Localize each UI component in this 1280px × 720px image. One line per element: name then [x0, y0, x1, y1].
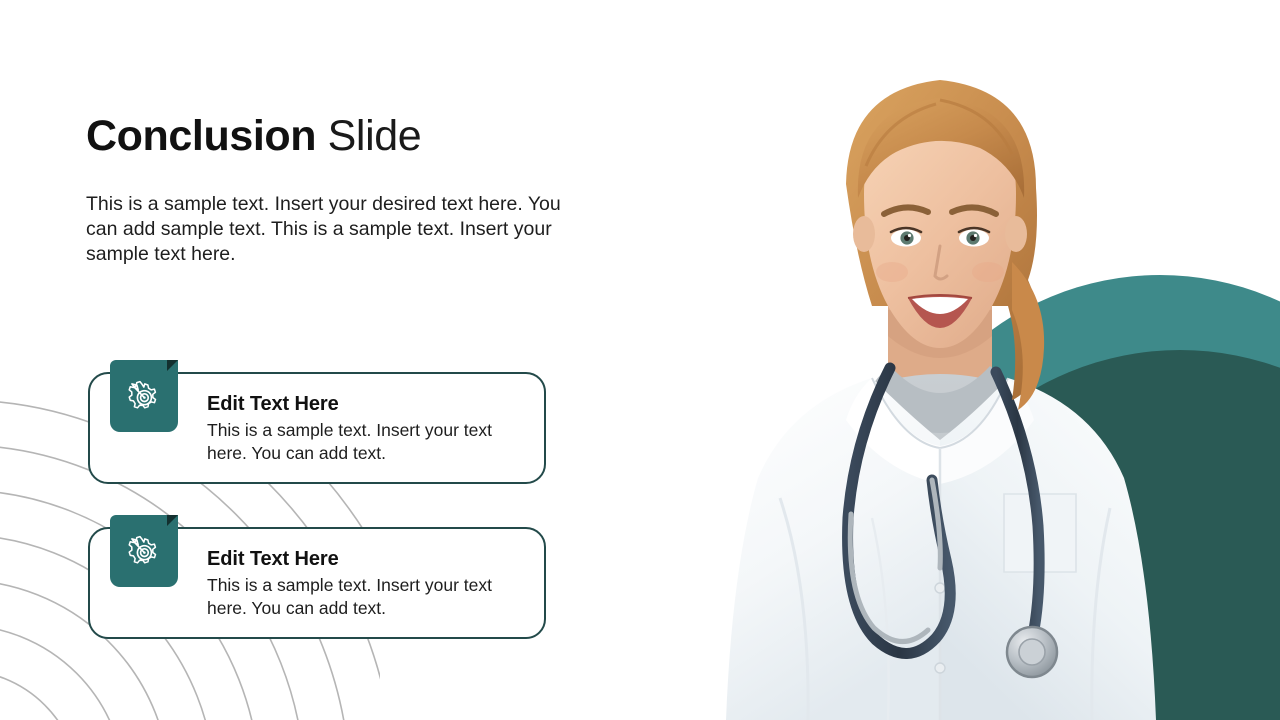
title-light: Slide — [328, 112, 422, 160]
card-1-title: Edit Text Here — [207, 391, 527, 417]
info-card-1[interactable]: Edit Text Here This is a sample text. In… — [88, 372, 546, 484]
card-2-description: This is a sample text. Insert your text … — [207, 574, 527, 620]
body-paragraph: This is a sample text. Insert your desir… — [86, 192, 591, 267]
info-card-2[interactable]: Edit Text Here This is a sample text. In… — [88, 527, 546, 639]
doctor-photo — [640, 48, 1240, 720]
page-title: Conclusion Slide — [86, 110, 421, 162]
decorative-teal-circles — [860, 0, 1280, 720]
card-1-description: This is a sample text. Insert your text … — [207, 419, 527, 465]
card-2-icon-badge — [110, 515, 178, 587]
slide-canvas: Conclusion Slide This is a sample text. … — [0, 0, 1280, 720]
card-2-text: Edit Text Here This is a sample text. In… — [207, 546, 527, 620]
card-1-icon-badge — [110, 360, 178, 432]
card-1-text: Edit Text Here This is a sample text. In… — [207, 391, 527, 465]
card-2-title: Edit Text Here — [207, 546, 527, 572]
title-strong: Conclusion — [86, 112, 316, 160]
gear-target-icon — [124, 376, 164, 416]
gear-target-icon — [124, 531, 164, 571]
